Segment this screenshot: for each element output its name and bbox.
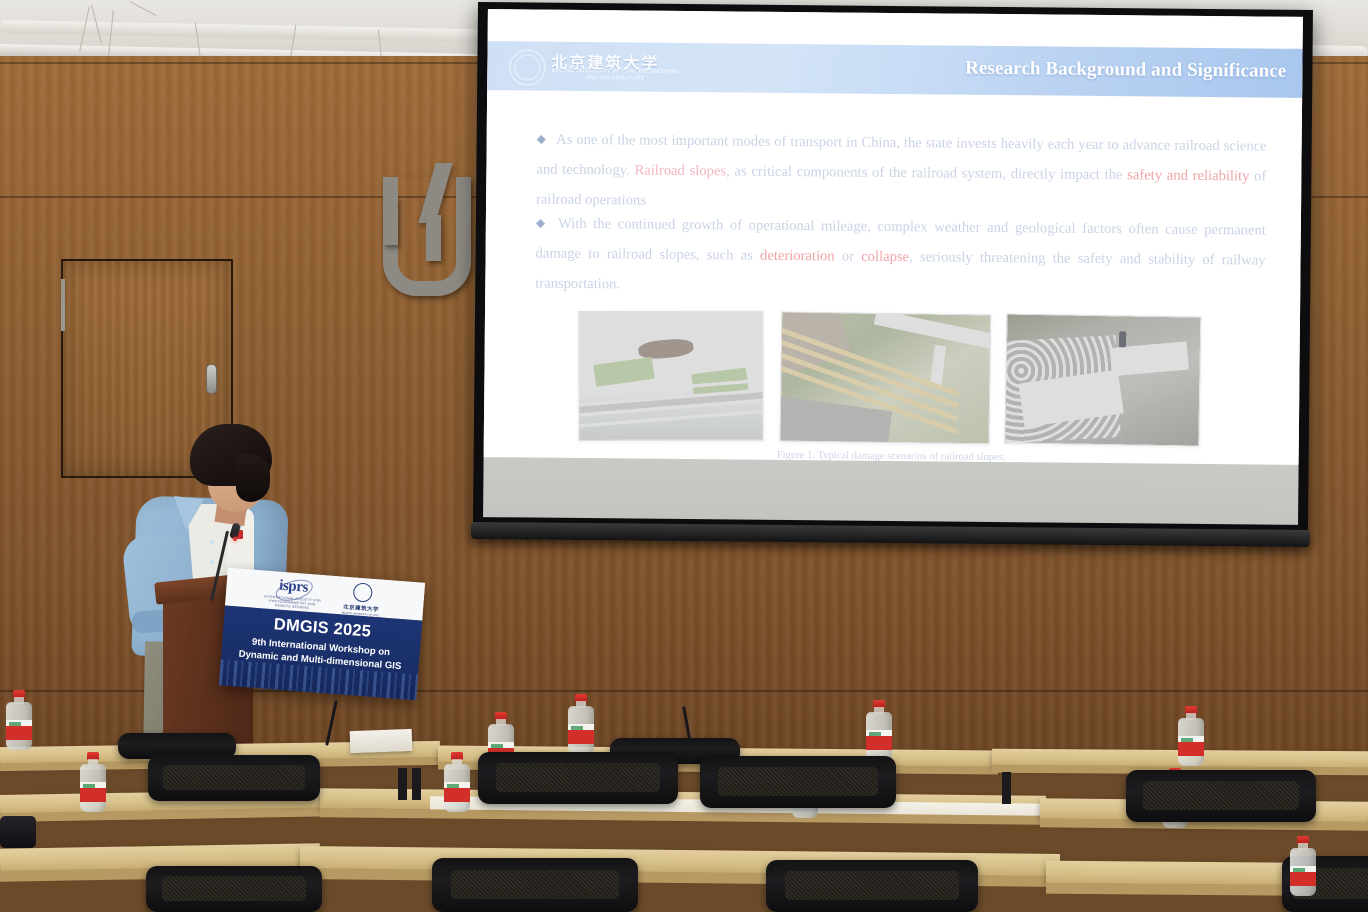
bucea-seal-icon bbox=[509, 49, 545, 85]
bullet-marker-icon: ◆ bbox=[537, 132, 547, 146]
chair-mesh-panel bbox=[718, 767, 879, 795]
bottle-label-accent bbox=[83, 784, 95, 788]
bullet-text: or bbox=[835, 248, 862, 264]
chair[interactable] bbox=[1126, 770, 1316, 822]
slide-bullet-1: ◆As one of the most important modes of t… bbox=[536, 124, 1267, 222]
chair[interactable] bbox=[766, 860, 978, 912]
shirt-button-icon bbox=[210, 540, 214, 544]
figure-row bbox=[484, 309, 1300, 447]
photo-worker-figure bbox=[1119, 332, 1126, 348]
chair[interactable] bbox=[478, 752, 678, 804]
bottle-label-accent bbox=[447, 784, 459, 788]
door-hinge-icon bbox=[61, 305, 65, 331]
bucea-seal-icon bbox=[352, 582, 372, 602]
chair[interactable] bbox=[148, 755, 320, 801]
eroded-embankment-photo bbox=[578, 311, 763, 441]
conference-room-scene: 北京建筑大学 BEIJING UNIVERSITY OF CIVIL ENGIN… bbox=[0, 0, 1368, 912]
chair-mesh-panel bbox=[163, 765, 304, 790]
podium: isprs INTERNATIONAL SOCIETY FOR PHOTOGRA… bbox=[163, 575, 421, 750]
slope-debris-photo bbox=[1004, 313, 1201, 446]
bullet-highlight: safety and reliability bbox=[1127, 167, 1249, 184]
bottle-label-accent bbox=[571, 726, 583, 730]
slide-bullet-2: ◆With the continued growth of operationa… bbox=[535, 208, 1266, 306]
door-handle-icon[interactable] bbox=[206, 364, 217, 394]
slide-title: Research Background and Significance bbox=[965, 58, 1286, 83]
wall-university-logo bbox=[355, 163, 467, 285]
bullet-highlight: collapse bbox=[861, 249, 909, 265]
chair[interactable] bbox=[432, 858, 638, 912]
monogram-stroke bbox=[426, 215, 441, 261]
chair[interactable] bbox=[146, 866, 322, 912]
chair-mesh-panel bbox=[162, 876, 306, 901]
slide-university-name-en: BEIJING UNIVERSITY OF CIVIL ENGINEERING … bbox=[550, 68, 680, 83]
chair-mesh-panel bbox=[496, 763, 660, 791]
bullet-highlight: Railroad slopes bbox=[635, 163, 727, 180]
bottle-label-accent bbox=[1293, 868, 1305, 872]
chair-mesh-panel bbox=[1143, 781, 1299, 809]
chair[interactable] bbox=[700, 756, 896, 808]
chair-mesh-panel bbox=[785, 871, 959, 899]
presenter-hair-side bbox=[236, 454, 270, 502]
desk-leg bbox=[398, 768, 407, 800]
bullet-highlight: deterioration bbox=[760, 248, 835, 265]
stacked-papers[interactable] bbox=[350, 729, 413, 753]
bottle-label-accent bbox=[491, 744, 503, 748]
bottle-label-accent bbox=[1181, 738, 1193, 742]
desk-leg bbox=[1002, 772, 1011, 804]
equipment-case[interactable] bbox=[0, 816, 36, 848]
bullet-marker-icon: ◆ bbox=[536, 216, 548, 230]
bullet-text: , as critical components of the railroad… bbox=[726, 163, 1127, 183]
chair-mesh-panel bbox=[451, 870, 620, 899]
bottle-label-accent bbox=[869, 732, 881, 736]
microphone-led-icon bbox=[233, 537, 237, 541]
bottle-label-accent bbox=[9, 722, 21, 726]
shirt-button-icon bbox=[210, 560, 214, 564]
twisted-track-photo bbox=[780, 311, 992, 444]
podium-banner: isprs INTERNATIONAL SOCIETY FOR PHOTOGRA… bbox=[219, 568, 425, 701]
projection-screen: 北京建筑大学 BEIJING UNIVERSITY OF CIVIL ENGIN… bbox=[473, 2, 1313, 562]
desk-leg bbox=[412, 768, 421, 800]
slide-body: ◆As one of the most important modes of t… bbox=[484, 95, 1302, 465]
isprs-logo: isprs INTERNATIONAL SOCIETY FOR PHOTOGRA… bbox=[261, 576, 325, 611]
monogram-stroke bbox=[383, 197, 398, 245]
door-hinge-icon bbox=[61, 279, 65, 305]
presentation-slide: 北京建筑大学 BEIJING UNIVERSITY OF CIVIL ENGIN… bbox=[484, 9, 1303, 465]
